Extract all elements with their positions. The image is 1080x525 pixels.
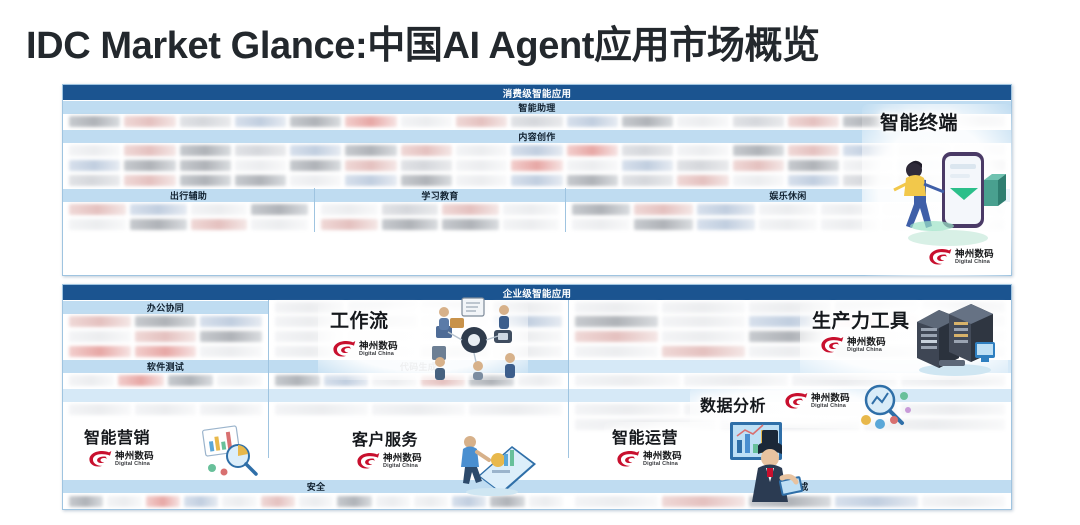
logo-chip xyxy=(575,302,658,313)
logo-chip xyxy=(401,175,452,186)
logo-row xyxy=(63,314,268,329)
logo-chip xyxy=(575,331,658,342)
logo-chip xyxy=(788,145,839,156)
magnifier-analytics-illustration xyxy=(856,380,918,432)
logo-chip xyxy=(345,175,396,186)
logo-chip xyxy=(235,175,286,186)
logo-chip xyxy=(788,116,839,127)
logo-chip xyxy=(922,496,1005,507)
logo-chip xyxy=(401,160,452,171)
logo-chip xyxy=(69,496,103,507)
logo-chip xyxy=(124,145,175,156)
logo-chip xyxy=(345,145,396,156)
logo-chip xyxy=(69,204,126,215)
enterprise-spacer-band xyxy=(63,388,268,402)
logo-chip xyxy=(622,145,673,156)
customer-service-illustration xyxy=(448,420,538,500)
logo-chip xyxy=(442,204,499,215)
logo-chip xyxy=(677,116,728,127)
consumer-column-label-education: 学习教育 xyxy=(315,188,565,202)
consumer-column-label-travel: 出行辅助 xyxy=(63,188,314,202)
logo-chip xyxy=(135,331,197,342)
logo-chip xyxy=(69,404,131,415)
logo-chip xyxy=(662,346,745,357)
logo-chip xyxy=(69,375,114,386)
logo-chip xyxy=(200,316,262,327)
logo-chip xyxy=(275,404,368,415)
logo-chip xyxy=(69,316,131,327)
logo-chip xyxy=(261,496,295,507)
logo-chip xyxy=(503,204,560,215)
enterprise-column-label-office: 办公协同 xyxy=(63,300,268,314)
logo-chip xyxy=(135,404,197,415)
logo-row xyxy=(315,217,565,232)
logo-chip xyxy=(345,116,396,127)
logo-chip xyxy=(567,160,618,171)
logo-chip xyxy=(180,145,231,156)
logo-chip xyxy=(222,496,256,507)
logo-chip xyxy=(124,175,175,186)
logo-chip xyxy=(733,175,784,186)
logo-chip xyxy=(130,204,187,215)
logo-chip xyxy=(69,145,120,156)
logo-chip xyxy=(575,316,658,327)
logo-chip xyxy=(69,346,131,357)
logo-chip xyxy=(299,496,333,507)
logo-chip xyxy=(677,175,728,186)
enterprise-section-header: 企业级智能应用 xyxy=(63,285,1011,300)
logo-chip xyxy=(788,160,839,171)
logo-chip xyxy=(124,160,175,171)
logo-chip xyxy=(572,219,630,230)
logo-chip xyxy=(575,404,680,415)
server-rack-illustration xyxy=(905,300,1005,378)
logo-row xyxy=(63,329,268,344)
logo-chip xyxy=(567,145,618,156)
logo-chip xyxy=(677,145,728,156)
logo-chip xyxy=(69,160,120,171)
logo-chip xyxy=(511,145,562,156)
logo-chip xyxy=(456,175,507,186)
logo-chip xyxy=(733,145,784,156)
operations-dashboard-illustration xyxy=(722,416,816,510)
logo-chip xyxy=(575,496,658,507)
logo-chip xyxy=(456,160,507,171)
logo-chip xyxy=(733,116,784,127)
logo-chip xyxy=(69,116,120,127)
logo-chip xyxy=(345,160,396,171)
logo-chip xyxy=(184,496,218,507)
logo-chip xyxy=(191,204,248,215)
page-title: IDC Market Glance:中国AI Agent应用市场概览 xyxy=(26,14,1066,68)
logo-chip xyxy=(217,375,262,386)
logo-chip xyxy=(511,160,562,171)
logo-chip xyxy=(180,175,231,186)
logo-chip xyxy=(235,160,286,171)
logo-chip xyxy=(622,175,673,186)
logo-chip xyxy=(290,160,341,171)
logo-chip xyxy=(372,404,465,415)
logo-chip xyxy=(662,302,745,313)
logo-chip xyxy=(634,219,692,230)
logo-chip xyxy=(456,116,507,127)
logo-chip xyxy=(107,496,141,507)
logo-chip xyxy=(572,204,630,215)
enterprise-spacer-band xyxy=(269,388,568,402)
logo-chip xyxy=(235,116,286,127)
logo-chip xyxy=(511,175,562,186)
logo-chip xyxy=(321,219,378,230)
logo-chip xyxy=(124,116,175,127)
logo-chip xyxy=(200,346,262,357)
logo-chip xyxy=(69,331,131,342)
marketing-charts-illustration xyxy=(198,424,266,480)
logo-chip xyxy=(677,160,728,171)
logo-chip xyxy=(511,116,562,127)
logo-chip xyxy=(118,375,163,386)
page-title-text: IDC Market Glance:中国AI Agent应用市场概览 xyxy=(26,14,820,69)
slide-canvas: IDC Market Glance:中国AI Agent应用市场概览 消费级智能… xyxy=(0,0,1080,525)
logo-chip xyxy=(401,116,452,127)
logo-chip xyxy=(135,316,197,327)
logo-chip xyxy=(180,160,231,171)
logo-chip xyxy=(567,175,618,186)
workflow-illustration xyxy=(418,296,528,380)
logo-chip xyxy=(275,375,320,386)
logo-chip xyxy=(788,175,839,186)
smart-operations-plate xyxy=(604,422,738,478)
logo-chip xyxy=(442,219,499,230)
logo-chip xyxy=(168,375,213,386)
logo-chip xyxy=(290,145,341,156)
logo-chip xyxy=(135,346,197,357)
logo-chip xyxy=(200,404,262,415)
logo-chip xyxy=(414,496,448,507)
logo-chip xyxy=(251,204,308,215)
logo-chip xyxy=(401,145,452,156)
logo-chip xyxy=(69,219,126,230)
logo-chip xyxy=(251,219,308,230)
logo-chip xyxy=(759,219,817,230)
logo-chip xyxy=(146,496,180,507)
logo-chip xyxy=(337,496,371,507)
logo-row xyxy=(63,217,314,232)
logo-chip xyxy=(180,116,231,127)
logo-chip xyxy=(662,316,745,327)
logo-chip xyxy=(290,116,341,127)
logo-row xyxy=(63,344,268,359)
logo-chip xyxy=(469,404,562,415)
logo-chip xyxy=(69,175,120,186)
logo-chip xyxy=(382,204,439,215)
logo-chip xyxy=(503,219,560,230)
logo-chip xyxy=(684,375,789,386)
logo-chip xyxy=(634,204,692,215)
logo-chip xyxy=(575,375,680,386)
logo-chip xyxy=(662,331,745,342)
logo-chip xyxy=(200,331,262,342)
logo-chip xyxy=(567,116,618,127)
logo-row xyxy=(315,202,565,217)
enterprise-column-label-software-testing: 软件测试 xyxy=(63,359,268,373)
logo-chip xyxy=(130,219,187,230)
logo-row xyxy=(63,373,268,388)
smart-terminal-illustration xyxy=(884,138,1008,250)
logo-chip xyxy=(456,145,507,156)
logo-chip xyxy=(376,496,410,507)
logo-chip xyxy=(191,219,248,230)
logo-chip xyxy=(697,204,755,215)
logo-chip xyxy=(622,160,673,171)
logo-chip xyxy=(733,160,784,171)
logo-chip xyxy=(382,219,439,230)
logo-chip xyxy=(759,204,817,215)
marketing-plate xyxy=(76,422,206,476)
logo-chip xyxy=(622,116,673,127)
consumer-column-travel: 出行辅助 xyxy=(63,188,314,232)
logo-chip xyxy=(697,219,755,230)
logo-chip xyxy=(321,204,378,215)
logo-chip xyxy=(235,145,286,156)
logo-chip xyxy=(835,496,918,507)
consumer-section-header: 消费级智能应用 xyxy=(63,85,1011,100)
logo-chip xyxy=(290,175,341,186)
logo-row xyxy=(63,202,314,217)
logo-chip xyxy=(575,346,658,357)
consumer-column-education: 学习教育 xyxy=(314,188,565,232)
